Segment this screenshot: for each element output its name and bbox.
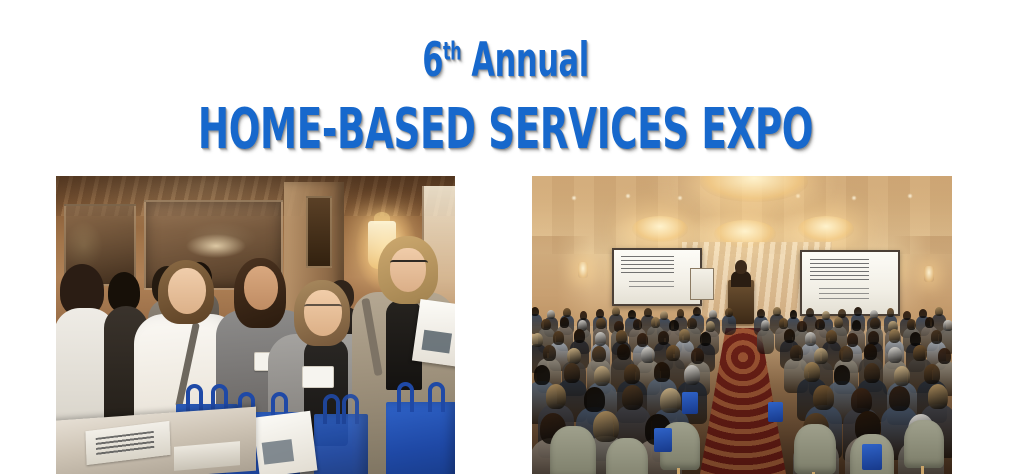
audience-member-head [687,318,697,329]
blue-tote-bag [314,414,368,474]
audience-member-head [834,317,844,328]
speaker-head [735,260,747,274]
audience-member-head [677,309,685,318]
attendee-grey-top-face [244,266,278,310]
audience-member-head [564,363,581,383]
audience-member-head [887,308,895,317]
blue-tote-bag [654,428,672,452]
audience-member-head [931,330,942,343]
audience-member-head [616,330,627,343]
audience-member [757,329,774,354]
audience-member-head [654,362,671,382]
program-flyer [412,299,455,367]
audience-member-head [815,319,825,330]
audience-member-head [532,333,543,346]
audience-member-head [864,363,881,383]
audience-member-head [826,330,837,343]
audience-member-head [813,385,834,409]
audience-member-head [834,365,851,385]
audience-member-head [651,317,661,328]
audience-member-head [790,310,798,319]
audience-member-head [658,331,669,344]
banquet-chair [904,420,944,468]
audience-member-head [854,307,862,316]
audience-member-head [584,387,605,411]
audience-member-head [773,307,781,316]
audience-member-head [888,347,902,363]
audience-member-head [913,345,927,361]
expo-attendees-photo: Four smiling women attendees holding blu… [56,176,455,474]
wall-sconce-icon [578,262,588,278]
audience-member-head [779,318,789,329]
audience-member-head [543,345,557,361]
audience-member-head [797,321,807,332]
audience-member-head [633,319,643,330]
audience-member-head [560,317,570,328]
audience-member-head [806,308,814,317]
audience-member-head [761,320,771,331]
expo-session-audience-photo: Packed ballroom audience seated facing a… [532,176,952,474]
audience-member-head [935,307,943,316]
attendee-white-blouse-face [168,268,206,314]
audience-member-head [924,364,941,384]
audience-member-head [693,307,701,316]
audience-member-head [784,329,795,342]
audience-member-head [938,348,952,364]
audience-member [722,315,736,335]
audience-member-head [814,348,828,364]
audience-member-head [553,331,564,344]
audience-member-head [637,333,648,346]
audience-member-head [592,346,606,362]
audience-member-head [870,318,880,329]
audience-member-head [805,332,816,345]
audience-member-head [593,411,619,442]
chair-leg [677,468,680,474]
eyeglasses-icon [304,304,342,315]
audience-member-head [628,310,636,319]
audience-member-head [563,308,571,317]
audience-member-head [706,321,716,332]
audience-member-head [660,388,681,412]
banquet-chair [606,438,648,474]
name-badge [302,366,334,388]
audience-member-head [709,310,717,319]
audience-member-head [580,311,588,320]
audience-member-head [910,332,921,345]
projection-screen-left [612,248,702,306]
blue-tote-bag [682,392,698,414]
banquet-chair [794,424,836,474]
projection-screen-right [800,250,900,316]
audience-member-head [700,332,711,345]
chair-leg [921,466,924,474]
audience-member-head [641,347,655,363]
audience-member-head [839,346,853,362]
audience-member-head [757,309,765,318]
audience-member-head [617,344,631,360]
audience-member-head [546,384,567,408]
audience-member-head [679,329,690,342]
banquet-chair [550,426,596,474]
expo-flyer-page: 6th Annual HOME-BASED SERVICES EXPO [0,0,1011,474]
audience-member-head [532,307,539,316]
audience-member-head [907,319,917,330]
annual-number: 6 [422,33,443,88]
page-title-line-1: 6th Annual [142,35,870,87]
wall-sconce-icon [924,266,934,282]
blue-tote-bag [862,444,882,470]
audience-member-head [864,344,878,360]
audience-member-head [666,345,680,361]
audience-member-head [889,329,900,342]
audience-member-head [928,384,949,408]
audience-member-head [660,311,668,320]
audience-member-head [595,332,606,345]
audience-member-head [851,388,872,412]
audience-member-head [804,362,821,382]
audience-member-head [644,308,652,317]
audience-member-head [725,308,733,317]
audience-member-head [684,365,701,385]
audience-member-head [868,331,879,344]
audience-member-head [889,386,910,410]
audience-member-head [534,365,551,385]
audience-member-head [894,366,911,386]
audience-member-head [622,385,643,409]
blue-tote-bag [386,402,455,474]
audience-member-head [547,310,555,319]
audience-member-head [822,311,830,320]
audience-member-head [943,320,952,331]
audience-member-head [669,320,679,331]
audience-member-head [925,317,935,328]
eyeglasses-icon [390,260,428,271]
ordinal-suffix: th [443,36,461,65]
annual-word: Annual [461,33,589,88]
audience-member-head [594,366,611,386]
audience-member-head [691,348,705,364]
audience-member-head [574,329,585,342]
audience-member-head [567,348,581,364]
blue-tote-bag [768,402,783,422]
audience-member-head [596,309,604,318]
program-flyer [253,411,318,474]
audience-member-head [847,333,858,346]
audience-member-head [919,309,927,318]
audience-member-head [612,307,620,316]
audience-member-head [624,364,641,384]
poster-easel [690,268,714,300]
page-title-line-2: HOME-BASED SERVICES EXPO [131,99,879,161]
audience-member-head [596,318,606,329]
doorway [306,196,332,268]
audience-member-head [790,345,804,361]
audience-member-head [852,320,862,331]
audience-member-head [541,319,551,330]
